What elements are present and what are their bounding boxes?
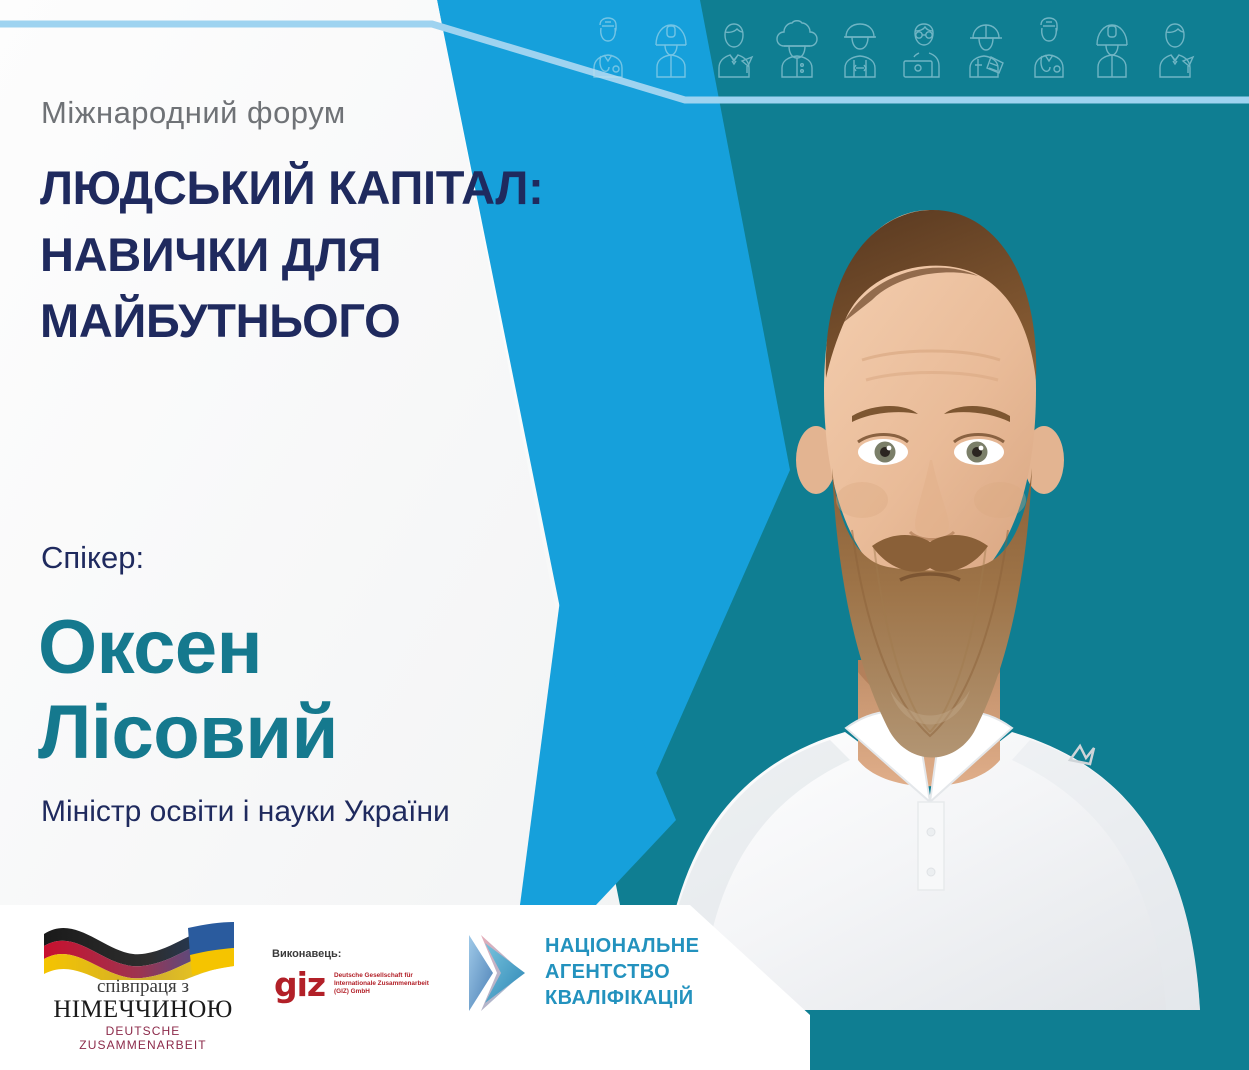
logo-giz: Виконавець: giz Deutsche Gesellschaft fü… [272, 948, 432, 1008]
giz-wordmark: giz [274, 970, 325, 1000]
event-kicker: Міжнародний форум [41, 95, 346, 131]
nak-line-3: КВАЛІФІКАЦІЙ [545, 985, 699, 1011]
speaker-role: Міністр освіти і науки України [41, 795, 450, 829]
page-title: ЛЮДСЬКИЙ КАПІТАЛ: НАВИЧКИ ДЛЯ МАЙБУТНЬОГ… [40, 155, 560, 355]
title-line-3: МАЙБУТНЬОГО [40, 288, 560, 355]
nak-line-2: АГЕНТСТВО [545, 959, 699, 985]
triangle-arrow-icon [463, 929, 535, 1017]
de-logo-line-1: співпраця з [48, 976, 238, 998]
de-logo-line-2: НІМЕЧЧИНОЮ [48, 996, 238, 1024]
nak-line-1: НАЦІОНАЛЬНЕ [545, 933, 699, 959]
nak-wordmark: НАЦІОНАЛЬНЕ АГЕНТСТВО КВАЛІФІКАЦІЙ [545, 933, 699, 1011]
german-ukrainian-flag-ribbon [38, 918, 243, 980]
speaker-name: Оксен Лісовий [38, 605, 558, 775]
speaker-name-line-2: Лісовий [38, 690, 558, 775]
de-logo-line-3: DEUTSCHE ZUSAMMENARBEIT [48, 1024, 238, 1052]
title-line-1: ЛЮДСЬКИЙ КАПІТАЛ: [40, 155, 560, 222]
title-line-2: НАВИЧКИ ДЛЯ [40, 222, 560, 289]
poster-canvas: Міжнародний форум ЛЮДСЬКИЙ КАПІТАЛ: НАВИ… [0, 0, 1249, 1070]
speaker-name-line-1: Оксен [38, 605, 558, 690]
giz-caption: Виконавець: [272, 948, 341, 960]
speaker-photo [600, 60, 1249, 1010]
giz-subtitle: Deutsche Gesellschaft für Internationale… [334, 972, 434, 997]
logo-german-cooperation: співпраця з НІМЕЧЧИНОЮ DEUTSCHE ZUSAMMEN… [38, 918, 243, 1033]
logo-national-agency: НАЦІОНАЛЬНЕ АГЕНТСТВО КВАЛІФІКАЦІЙ [463, 925, 693, 1025]
speaker-label: Спікер: [41, 540, 144, 576]
